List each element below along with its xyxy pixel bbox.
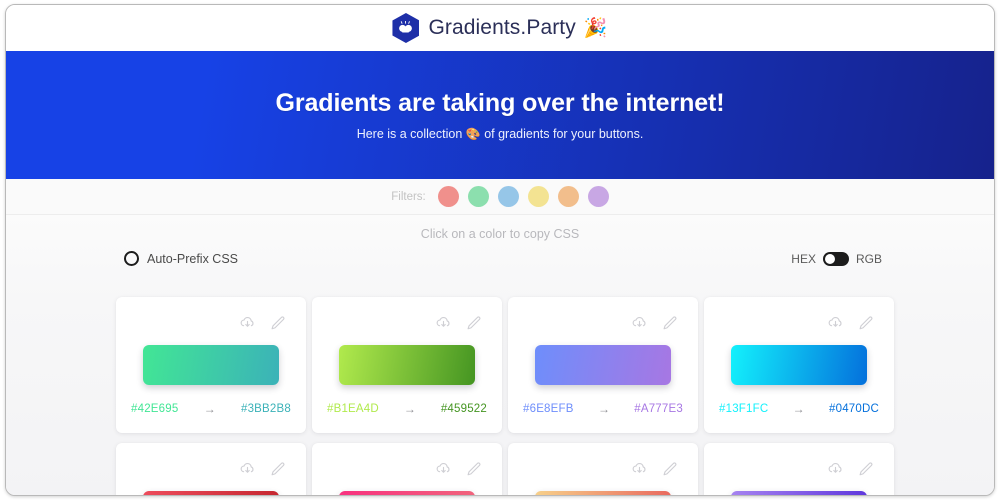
cloud-download-icon[interactable] — [239, 460, 256, 477]
hero-banner: Gradients are taking over the internet! … — [6, 51, 994, 179]
party-popper-icon: 🎉 — [584, 16, 608, 40]
hero-subtitle-text-1: Here is a collection — [357, 127, 466, 141]
pencil-edit-icon[interactable] — [661, 460, 678, 477]
palette-icon: 🎨 — [466, 127, 481, 141]
pencil-edit-icon[interactable] — [269, 460, 286, 477]
cloud-download-icon[interactable] — [631, 460, 648, 477]
gradient-hex-from[interactable]: #13F1FC — [719, 403, 768, 415]
auto-prefix-circle-icon[interactable] — [124, 251, 139, 266]
gradient-card[interactable]: #13F1FC→#0470DC — [704, 297, 894, 433]
cloud-download-icon[interactable] — [827, 314, 844, 331]
arrow-right-icon: → — [598, 402, 610, 416]
card-actions — [326, 457, 488, 479]
card-actions — [326, 311, 488, 333]
card-actions — [130, 457, 292, 479]
gradient-hex-row: #42E695→#3BB2B8 — [130, 402, 292, 416]
gradient-hex-to[interactable]: #3BB2B8 — [241, 403, 291, 415]
hero-subtitle: Here is a collection 🎨 of gradients for … — [357, 127, 644, 141]
auto-prefix-toggle[interactable]: Auto-Prefix CSS — [124, 251, 238, 266]
hero-title: Gradients are taking over the internet! — [276, 89, 725, 118]
filter-dot-green[interactable] — [468, 186, 489, 207]
card-actions — [718, 311, 880, 333]
card-actions — [522, 311, 684, 333]
gradient-card[interactable]: #A683F0→#5C35DC — [704, 443, 894, 496]
gradient-hex-to[interactable]: #0470DC — [829, 403, 879, 415]
site-header: Gradients.Party 🎉 — [6, 5, 994, 51]
hex-rgb-toggle[interactable]: HEX RGB — [791, 252, 882, 266]
gradient-card[interactable]: #F7D08A→#E8645C — [508, 443, 698, 496]
filters-label: Filters: — [391, 191, 426, 203]
pencil-edit-icon[interactable] — [465, 314, 482, 331]
cloud-download-icon[interactable] — [827, 460, 844, 477]
options-row: Auto-Prefix CSS HEX RGB — [6, 241, 994, 266]
gradient-swatch[interactable] — [143, 491, 279, 496]
cloud-download-icon[interactable] — [435, 460, 452, 477]
gradient-hex-from[interactable]: #6E8EFB — [523, 403, 574, 415]
rgb-label[interactable]: RGB — [856, 252, 882, 266]
gradient-swatch[interactable] — [339, 345, 475, 385]
filter-dot-blue[interactable] — [498, 186, 519, 207]
gradient-hex-row: #13F1FC→#0470DC — [718, 402, 880, 416]
gradient-card[interactable]: #B1EA4D→#459522 — [312, 297, 502, 433]
gradient-hex-row: #B1EA4D→#459522 — [326, 402, 488, 416]
pencil-edit-icon[interactable] — [661, 314, 678, 331]
gradient-swatch[interactable] — [339, 491, 475, 496]
gradient-swatch[interactable] — [535, 491, 671, 496]
cloud-download-icon[interactable] — [631, 314, 648, 331]
card-actions — [522, 457, 684, 479]
gradient-hex-row: #6E8EFB→#A777E3 — [522, 402, 684, 416]
gradient-swatch[interactable] — [731, 491, 867, 496]
copy-hint-text: Click on a color to copy CSS — [6, 215, 994, 241]
gradient-cards-grid: #42E695→#3BB2B8#B1EA4D→#459522#6E8EFB→#A… — [116, 297, 894, 496]
main-content: Click on a color to copy CSS Auto-Prefix… — [6, 215, 994, 496]
filter-dot-red[interactable] — [438, 186, 459, 207]
cloud-download-icon[interactable] — [239, 314, 256, 331]
hexagon-logo-icon[interactable] — [392, 13, 419, 43]
card-actions — [130, 311, 292, 333]
arrow-right-icon: → — [404, 402, 416, 416]
gradient-swatch[interactable] — [143, 345, 279, 385]
arrow-right-icon: → — [204, 402, 216, 416]
pencil-edit-icon[interactable] — [857, 314, 874, 331]
hero-subtitle-text-2: of gradients for your buttons. — [481, 127, 644, 141]
filter-dot-purple[interactable] — [588, 186, 609, 207]
unit-switch[interactable] — [823, 252, 849, 266]
gradient-card[interactable]: #6E8EFB→#A777E3 — [508, 297, 698, 433]
unit-switch-knob — [825, 254, 835, 264]
pencil-edit-icon[interactable] — [857, 460, 874, 477]
hex-label[interactable]: HEX — [791, 252, 816, 266]
pencil-edit-icon[interactable] — [465, 460, 482, 477]
card-actions — [718, 457, 880, 479]
gradient-hex-to[interactable]: #459522 — [441, 403, 487, 415]
gradient-card[interactable]: #ED4C5C→#C4252E — [116, 443, 306, 496]
brand-title: Gradients.Party — [428, 16, 575, 40]
auto-prefix-label: Auto-Prefix CSS — [147, 252, 238, 266]
gradient-hex-from[interactable]: #B1EA4D — [327, 403, 379, 415]
filter-dot-orange[interactable] — [558, 186, 579, 207]
filters-bar: Filters: — [6, 179, 994, 215]
gradient-hex-from[interactable]: #42E695 — [131, 403, 178, 415]
browser-window: Gradients.Party 🎉 Gradients are taking o… — [5, 4, 995, 496]
gradient-card[interactable]: #42E695→#3BB2B8 — [116, 297, 306, 433]
filter-dot-yellow[interactable] — [528, 186, 549, 207]
arrow-right-icon: → — [793, 402, 805, 416]
cloud-download-icon[interactable] — [435, 314, 452, 331]
gradient-swatch[interactable] — [731, 345, 867, 385]
gradient-swatch[interactable] — [535, 345, 671, 385]
gradient-hex-to[interactable]: #A777E3 — [634, 403, 683, 415]
pencil-edit-icon[interactable] — [269, 314, 286, 331]
gradient-card[interactable]: #F8317F→#F0667C — [312, 443, 502, 496]
